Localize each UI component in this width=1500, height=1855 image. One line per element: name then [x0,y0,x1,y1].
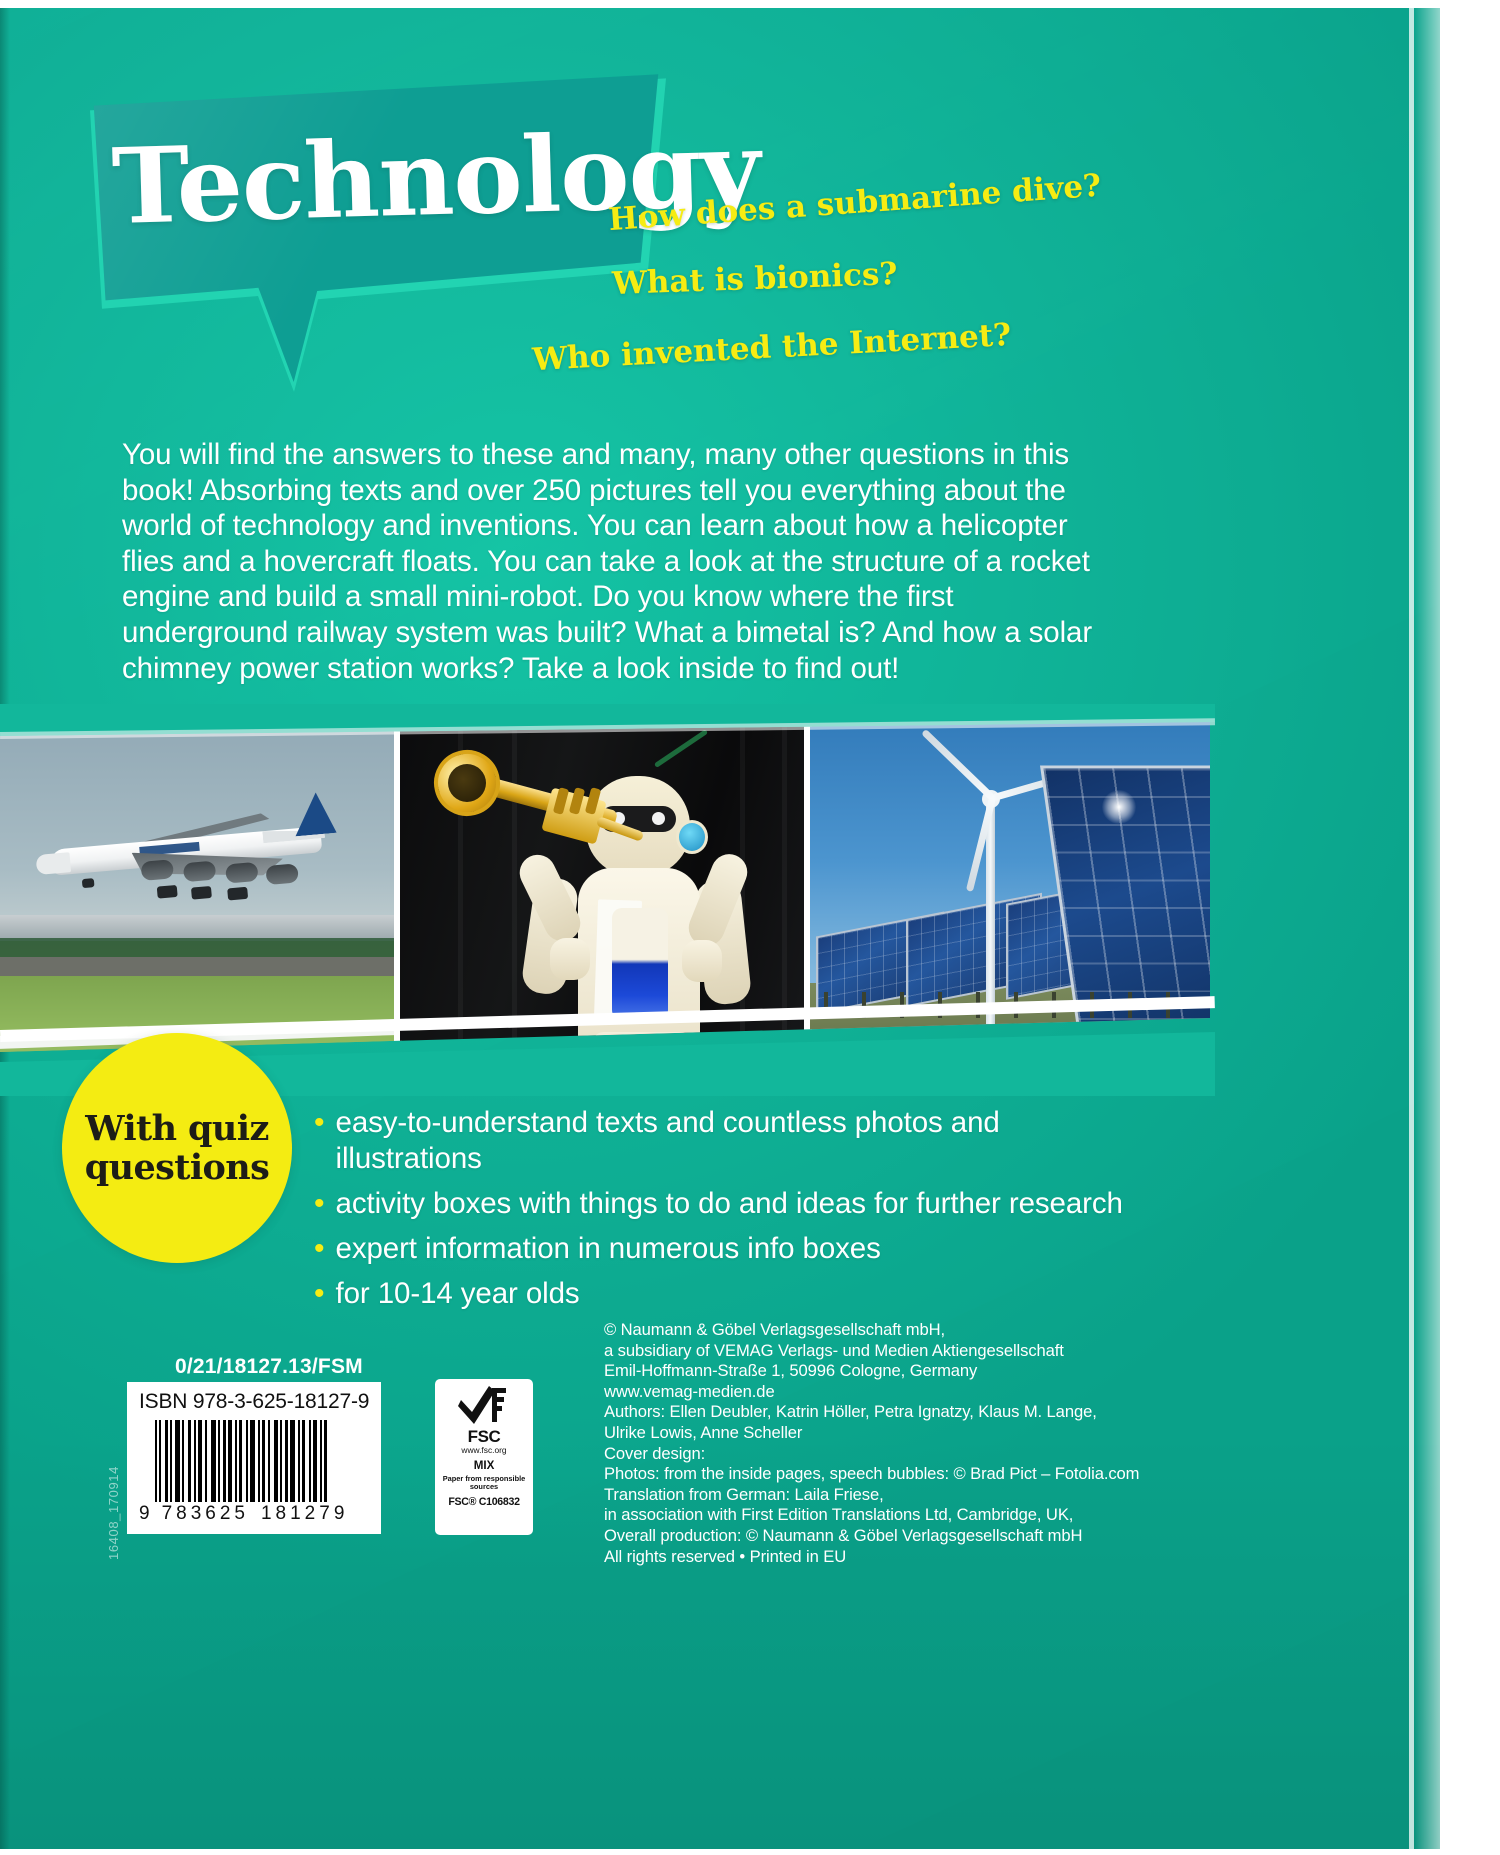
quiz-badge-line-1: With quiz [85,1108,268,1149]
imprint-block: © Naumann & Göbel Verlagsgesellschaft mb… [604,1320,1104,1567]
imprint-line: Photos: from the inside pages, speech bu… [604,1464,1104,1485]
bullet-dot-icon: • [314,1234,325,1264]
imprint-line: Emil-Hoffmann-Straße 1, 50996 Cologne, G… [604,1361,1104,1382]
teaser-question-2: What is bionics? [612,250,1071,302]
curtain-fold [512,702,517,1082]
treeline [0,938,394,957]
imprint-line: Overall production: © Naumann & Göbel Ve… [604,1526,1104,1547]
list-item-label: expert information in numerous info boxe… [336,1231,881,1267]
robot-hand [682,940,722,982]
bullet-dot-icon: • [314,1108,325,1138]
bullet-dot-icon: • [314,1279,325,1309]
bullet-dot-icon: • [314,1189,325,1219]
fsc-description: Paper from responsible sources [439,1475,529,1492]
tarmac [0,957,394,976]
quiz-badge-text: With quiz questions [85,1109,269,1187]
quiz-badge: With quiz questions [62,1033,292,1263]
fsc-license-code: FSC® C106832 [439,1496,529,1508]
fsc-logo: FSC www.fsc.org MIX Paper from responsib… [435,1379,533,1535]
barcode-bars [155,1420,371,1502]
photo-strip [0,722,1210,1052]
feature-list: • easy-to-understand texts and countless… [314,1105,1144,1321]
list-item: • easy-to-understand texts and countless… [314,1105,1144,1177]
imprint-line: www.vemag-medien.de [604,1382,1104,1403]
engine [265,863,299,885]
robot-ear [676,820,708,854]
blurb-paragraph: You will find the answers to these and m… [122,437,1122,686]
imprint-line: a subsidiary of VEMAG Verlags- und Medie… [604,1341,1104,1362]
engine [141,859,175,881]
list-item-label: activity boxes with things to do and ide… [336,1186,1123,1222]
fsc-tree-checkmark-icon [458,1384,510,1428]
trumpet-bell-opening [448,764,486,802]
imprint-line: © Naumann & Göbel Verlagsgesellschaft mb… [604,1320,1104,1341]
fsc-wordmark: FSC [439,1428,529,1445]
isbn-text: ISBN 978-3-625-18127-9 [139,1390,371,1414]
top-trim [0,0,1500,8]
robot-hand [550,938,590,980]
list-item: • for 10-14 year olds [314,1276,1144,1312]
barcode-digit-group-2: 181279 [261,1503,348,1525]
landing-gear [191,886,212,900]
nose-gear [82,878,95,888]
list-item: • expert information in numerous info bo… [314,1231,1144,1267]
list-item-label: for 10-14 year olds [336,1276,580,1312]
barcode-digits: 9 783625 181279 [139,1503,371,1525]
curtain-fold [782,702,787,1082]
landing-gear [157,885,178,899]
nose-cone [36,852,72,875]
imprint-line: Cover design: [604,1444,1104,1465]
order-code: 0/21/18127.13/FSM [175,1355,363,1379]
internal-print-code: 16408_170914 [106,1466,121,1560]
robot-photo [400,702,804,1082]
fence [810,992,1210,1018]
engine [225,862,259,884]
book-back-cover: Technology How does a submarine dive? Wh… [0,0,1500,1855]
list-item-label: easy-to-understand texts and countless p… [336,1105,1144,1177]
page-edge-shadow [1414,0,1440,1855]
page-edge-line [1409,0,1414,1855]
fsc-mix-label: MIX [439,1459,529,1472]
landing-gear [227,887,248,901]
curtain-fold [740,702,745,1082]
barcode-digit-group-1: 783625 [162,1503,249,1525]
fsc-url: www.fsc.org [439,1446,529,1455]
teaser-questions: How does a submarine dive? What is bioni… [600,186,1070,364]
renewable-energy-photo [810,702,1210,1082]
robot-chest-panel [612,908,668,1020]
barcode-block: ISBN 978-3-625-18127-9 [127,1382,381,1534]
imprint-line: Translation from German: Laila Friese, [604,1485,1104,1506]
imprint-line: All rights reserved • Printed in EU [604,1547,1104,1568]
sun-glare [1102,790,1136,824]
airplane-photo [0,702,394,1082]
imprint-line: Authors: Ellen Deubler, Katrin Höller, P… [604,1402,1104,1423]
quiz-badge-line-2: questions [85,1147,269,1188]
robot-eye [652,812,665,825]
barcode-digit-lead: 9 [139,1503,152,1525]
engine [183,861,217,883]
list-item: • activity boxes with things to do and i… [314,1186,1144,1222]
page-edge-white [1440,0,1500,1855]
imprint-line: Ulrike Lowis, Anne Scheller [604,1423,1104,1444]
imprint-line: in association with First Edition Transl… [604,1505,1104,1526]
bottom-trim [0,1849,1500,1855]
